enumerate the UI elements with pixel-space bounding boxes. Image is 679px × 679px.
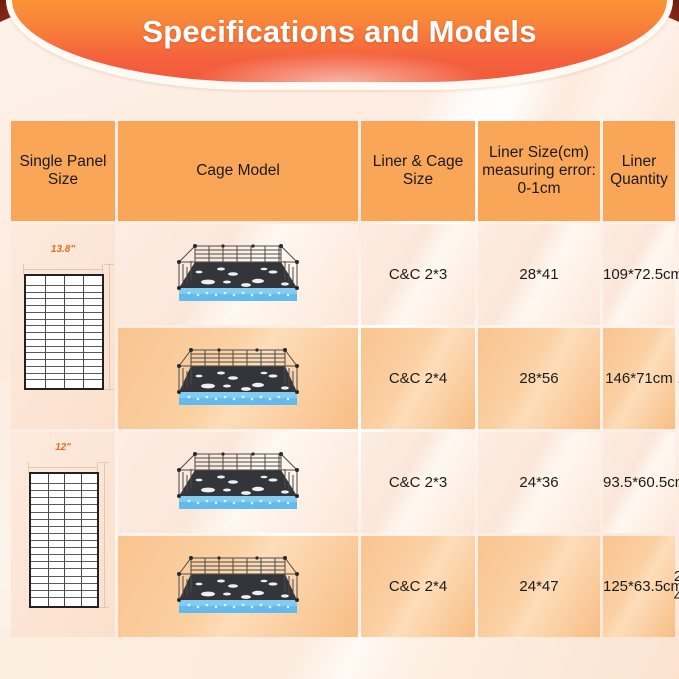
wire-grid-panel-icon [29,472,99,608]
cage-model-cell-1: C&C 2*3 [361,224,475,325]
specifications-table: Single Panel SizeCage ModelLiner & Cage … [8,118,679,640]
panel-height-dimension-line-2 [99,460,109,610]
banner-glow [190,52,490,82]
liner-cage-size-cell-3: 24*36 [478,432,600,533]
table-row: 12" 16" C&C 2*324*3693.5*60.5cm2 [11,432,678,533]
liner-cage-size-cell-4: 24*47 [478,536,600,637]
single-panel-size-cell-1: 13.8" 13.8" [11,224,115,429]
cage-image-cell-3 [118,432,358,533]
cage-image-cell-2 [118,328,358,429]
liner-cage-size-cell-2: 28*56 [478,328,600,429]
table-header-row: Single Panel SizeCage ModelLiner & Cage … [11,121,678,221]
column-header-single-panel-size: Single Panel Size [11,121,115,221]
column-header-liner-quantity: Liner Quantity [603,121,675,221]
liner-size-cm-cell-2: 146*71cm [603,328,675,429]
panel-height-dimension-line-1 [104,262,114,392]
column-header-liner-size-cm: Liner Size(cm) measuring error: 0-1cm [478,121,600,221]
wire-grid-panel-icon [24,274,104,390]
liner-cage-size-cell-1: 28*41 [478,224,600,325]
liner-size-cm-cell-3: 93.5*60.5cm [603,432,675,533]
cage-illustration-icon [163,548,313,628]
single-panel-size-cell-2: 12" 16" [11,432,115,637]
cage-illustration-icon [163,444,313,524]
panel-width-label-1: 13.8" [21,244,105,255]
liner-size-cm-cell-1: 109*72.5cm [603,224,675,325]
cage-illustration-icon [163,340,313,420]
cage-model-cell-2: C&C 2*4 [361,328,475,429]
liner-size-cm-cell-4: 125*63.5cm [603,536,675,637]
page-title: Specifications and Models [0,14,679,50]
cage-illustration-icon [163,236,313,316]
cage-image-cell-1 [118,224,358,325]
cage-image-cell-4 [118,536,358,637]
cage-model-cell-3: C&C 2*3 [361,432,475,533]
column-header-cage-model: Cage Model [118,121,358,221]
panel-width-dimension-line-1 [21,260,105,274]
column-header-liner-cage-size: Liner & Cage Size [361,121,475,221]
panel-width-dimension-line-2 [26,458,100,472]
cage-model-cell-4: C&C 2*4 [361,536,475,637]
panel-width-label-2: 12" [26,442,100,453]
header-banner: Specifications and Models [0,0,679,92]
table-row: 13.8" 13.8" C&C 2*328*41109*72.5cm2 [11,224,678,325]
